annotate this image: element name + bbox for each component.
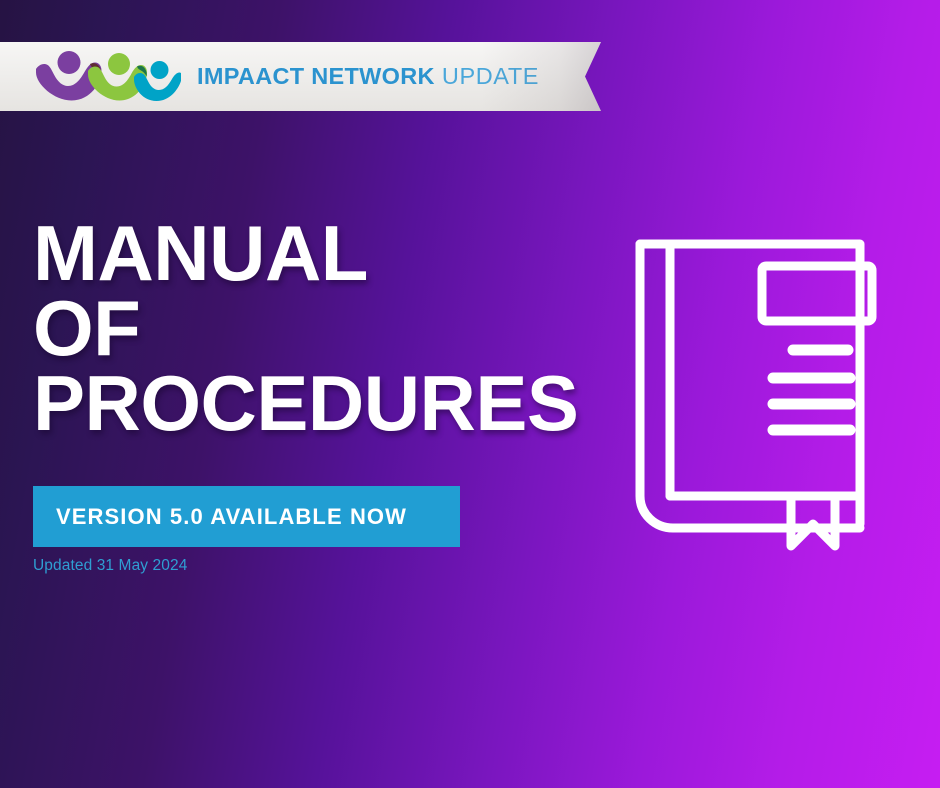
- book-text-lines: [773, 350, 850, 430]
- headline-line-1: MANUAL: [33, 216, 593, 291]
- page-title: MANUAL OF PROCEDURES: [33, 216, 593, 441]
- poster-canvas: IMPAACT NETWORK UPDATE MANUAL OF PROCEDU…: [0, 0, 940, 788]
- header-ribbon: IMPAACT NETWORK UPDATE: [0, 42, 601, 111]
- version-available-banner[interactable]: VERSION 5.0 AVAILABLE NOW: [33, 486, 460, 547]
- impaact-network-logo: [33, 48, 181, 106]
- headline-line-3: PROCEDURES: [33, 366, 593, 441]
- header-title-light: UPDATE: [442, 63, 539, 89]
- header-title-strong: IMPAACT NETWORK: [197, 63, 435, 89]
- headline-line-2: OF: [33, 291, 593, 366]
- updated-date-note: Updated 31 May 2024: [33, 557, 187, 575]
- bookmark-ribbon: [791, 496, 835, 546]
- book-icon: [628, 224, 880, 552]
- cta-label: VERSION 5.0 AVAILABLE NOW: [56, 504, 407, 530]
- header-title: IMPAACT NETWORK UPDATE: [197, 63, 539, 90]
